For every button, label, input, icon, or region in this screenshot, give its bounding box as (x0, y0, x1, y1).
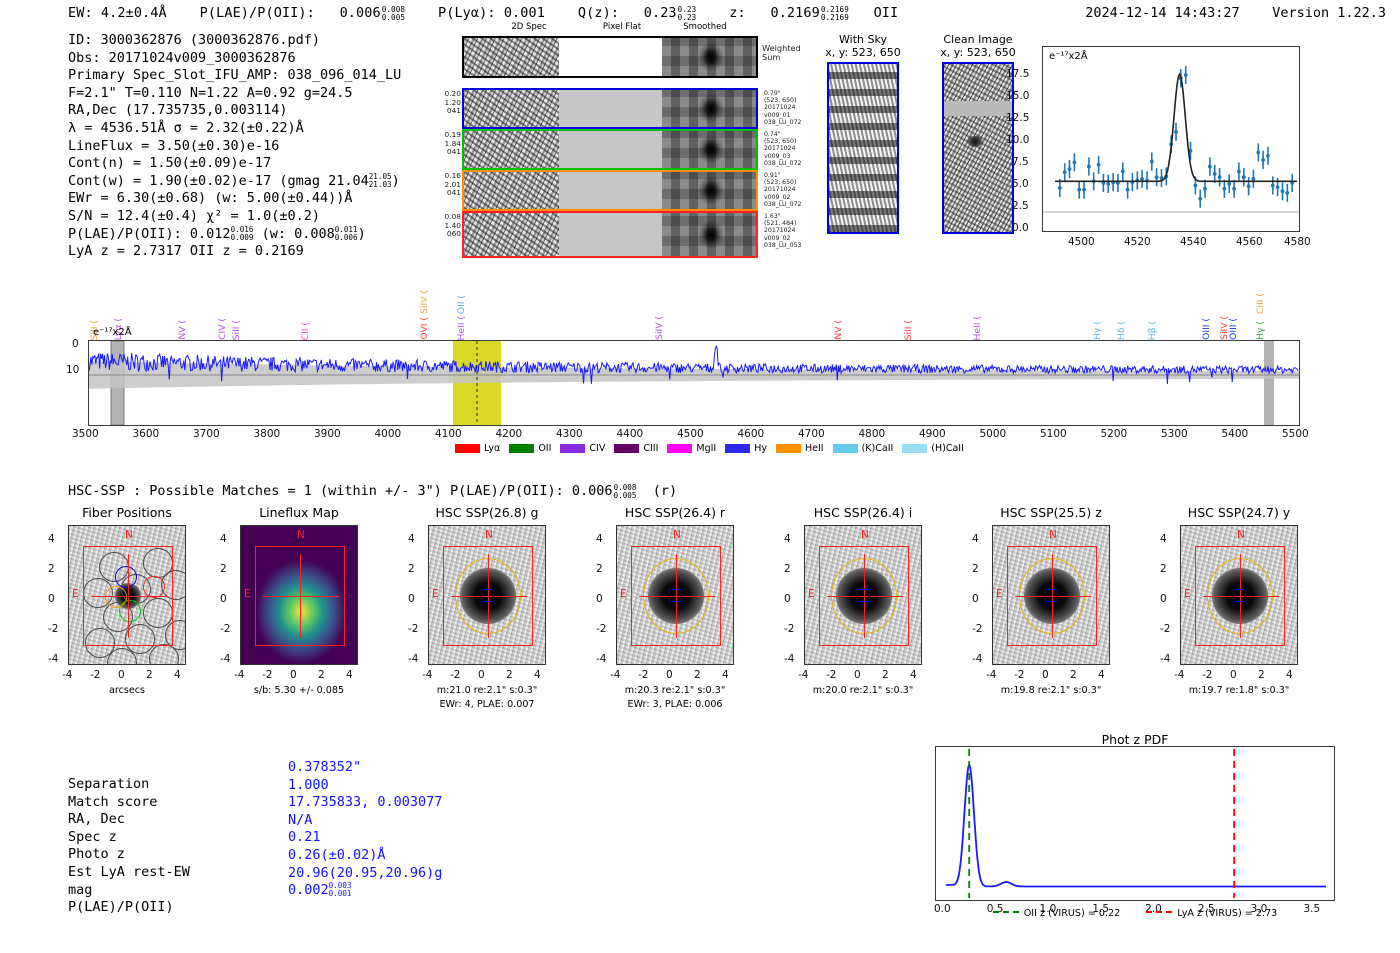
legend-label: HeII (805, 443, 824, 454)
cutout-ytick: -4 (48, 653, 58, 665)
clean-image (942, 62, 1014, 234)
match-value: 1.000 (288, 777, 442, 795)
cutout-title: HSC SSP(24.7) y (1170, 505, 1308, 520)
cutout-ytick: -4 (408, 653, 418, 665)
legend-label: (K)CaII (862, 443, 894, 454)
cutout-ytick: 2 (972, 563, 979, 575)
cutout-panel-grid: Fiber PositionsNE420-2-4-4-2024arcsecsLi… (0, 505, 1400, 735)
emission-line-label: Hδ ( (1116, 321, 1127, 340)
cutout-xtick: 2 (318, 669, 325, 681)
emission-line-label: SiIV ( (419, 290, 430, 314)
cutout-ytick: 2 (784, 563, 791, 575)
cutout-image-lineflux[interactable]: NE (240, 525, 358, 665)
fullspec-canvas (89, 341, 1299, 425)
legend-label: OII (538, 443, 551, 454)
version-label: Version 1.22.3 (1272, 5, 1386, 21)
cutout-ytick: -2 (48, 623, 58, 635)
cutout-title: HSC SSP(26.4) i (794, 505, 932, 520)
cutout-title: Lineflux Map (230, 505, 368, 520)
legend-swatch (833, 444, 858, 453)
cutout-xtick: 4 (1286, 669, 1293, 681)
cutout-ytick: 4 (408, 533, 415, 545)
cutout-xtick: -4 (986, 669, 996, 681)
cutout-xtick: 0 (854, 669, 861, 681)
photz-legend-swatch (993, 911, 1019, 913)
info-primary-spec: Primary Spec_Slot_IFU_AMP: 038_096_014_L… (68, 67, 401, 85)
cutout-ytick: 2 (408, 563, 415, 575)
zoomplot-xtick: 4540 (1180, 236, 1207, 248)
cutout-xtick: -2 (826, 669, 836, 681)
cutout-xtick: -2 (638, 669, 648, 681)
spec2d-cell-pixelflat (559, 213, 662, 256)
full-spectrum-plot: e⁻¹⁷x2Å (88, 340, 1300, 426)
spec2d-weighted-sum-label: WeightedSum (762, 44, 801, 62)
cutout-ytick: 0 (1160, 593, 1167, 605)
legend-item: CIV (560, 443, 605, 454)
cutout-xtick: 4 (534, 669, 541, 681)
match-value: 17.735833, 0.003077 (288, 794, 442, 812)
cutout-ytick: 4 (48, 533, 55, 545)
cutout-image-cutout[interactable]: NE (428, 525, 546, 665)
info-gmag-bounds: 21.0521.03 (369, 173, 392, 189)
match-table-values: 0.378352" 1.000 17.735833, 0.003077 N/A … (288, 759, 442, 900)
zoomplot-ytick: 15.0 (1006, 90, 1029, 102)
header-z-value: 0.2169 (770, 5, 819, 21)
photz-legend-item: LyA z (VIRUS) = 2.73 (1146, 908, 1277, 919)
zoomplot-xtick: 4500 (1068, 236, 1095, 248)
cutout-xtick: -2 (1014, 669, 1024, 681)
cutout-ytick: 0 (220, 593, 227, 605)
spec2d-weighted-sum-row (462, 36, 758, 78)
cutout-xtick: -4 (422, 669, 432, 681)
match-label: Separation (68, 776, 190, 794)
cutout-title: Fiber Positions (58, 505, 196, 520)
compass-n-label: N (1237, 529, 1245, 541)
zoomplot-xtick: 4520 (1124, 236, 1151, 248)
cutout-title: HSC SSP(26.8) g (418, 505, 556, 520)
fullspec-xtick: 4300 (556, 428, 583, 440)
spec2d-cell-2dspec (464, 90, 559, 127)
cutout-caption: m:19.8 re:2.1" s:0.3" (970, 685, 1132, 697)
photz-legend-item: OII z (VIRUS) = 0.22 (993, 908, 1121, 919)
cutout-xtick: 2 (694, 669, 701, 681)
legend-swatch (776, 444, 801, 453)
header-z-label: z: (729, 5, 745, 21)
compass-e-label: E (72, 588, 79, 600)
legend-item: OII (509, 443, 551, 454)
cutout-ytick: 0 (408, 593, 415, 605)
zoomplot-canvas (1043, 47, 1299, 231)
match-marker (1233, 589, 1246, 602)
spec2d-row: 0.081.40060 1.63"(521, 484)20171024v009_… (462, 211, 758, 258)
cutout-image-cutout[interactable]: NE (1180, 525, 1298, 665)
cutout-ytick: 4 (972, 533, 979, 545)
legend-swatch (455, 444, 480, 453)
cutout-xtick: 2 (1070, 669, 1077, 681)
spec2d-row: 0.201.20041 0.79"(523, 650)20171024v009_… (462, 88, 758, 129)
cutout-ytick: -2 (972, 623, 982, 635)
compass-n-label: N (1049, 529, 1057, 541)
cutout-xtick: 0 (666, 669, 673, 681)
cutout-caption-secondary: EWr: 3, PLAE: 0.006 (594, 699, 756, 711)
legend-swatch (614, 444, 639, 453)
fullspec-xtick: 5300 (1161, 428, 1188, 440)
cutout-ytick: 4 (596, 533, 603, 545)
photz-pdf-legend: OII z (VIRUS) = 0.22LyA z (VIRUS) = 2.73 (935, 908, 1335, 919)
match-value: N/A (288, 812, 442, 830)
cutout-caption: m:21.0 re:2.1" s:0.3" (406, 685, 568, 697)
fullspec-xtick: 4800 (859, 428, 886, 440)
header-z-bounds: 0.21690.2169 (821, 6, 849, 22)
fullspec-xtick: 3800 (254, 428, 281, 440)
emission-line-label: HeII ( (456, 316, 467, 341)
compass-n-label: N (297, 529, 305, 541)
zoomplot-ytick: 0.0 (1012, 222, 1029, 234)
fullspec-xtick: 4500 (677, 428, 704, 440)
fullspec-ytick: 10 (66, 364, 79, 376)
header-qz-label: Q(z): (578, 5, 619, 21)
spec2d-cell-2dspec (464, 213, 559, 256)
legend-item: (H)CaII (902, 443, 964, 454)
cutout-ytick: -2 (1160, 623, 1170, 635)
info-redshifts: LyA z = 2.7317 OII z = 0.2169 (68, 243, 401, 261)
compass-n-label: N (673, 529, 681, 541)
cutout-xtick: -2 (1202, 669, 1212, 681)
cutout-ytick: 4 (220, 533, 227, 545)
cutout-ytick: 0 (784, 593, 791, 605)
spec2d-cell-smoothed (662, 172, 756, 209)
cutout-xtick: 4 (346, 669, 353, 681)
spec2d-row: 0.191.84041 0.74"(523, 650)20171024v009_… (462, 129, 758, 170)
compass-e-label: E (996, 588, 1003, 600)
spec2d-row-left-labels: 0.191.84041 (445, 131, 461, 157)
fullspec-xtick: 3600 (133, 428, 160, 440)
spec2d-col-title-2dspec: 2D Spec (486, 22, 572, 32)
emission-line-label: HeII ( (972, 316, 983, 341)
clean-image-title: Clean Image (928, 33, 1028, 46)
emission-line-label: CIII ( (1255, 293, 1266, 314)
fullspec-xtick: 4900 (919, 428, 946, 440)
cutout-image-cutout[interactable]: NE (992, 525, 1110, 665)
spectrum-legend: LyαOIICIVCIIIMgIIHyHeII(K)CaII(H)CaII (455, 443, 964, 454)
cutout-xtick: -4 (610, 669, 620, 681)
fullspec-xtick: 4400 (617, 428, 644, 440)
cutout-xtick: 4 (722, 669, 729, 681)
cutout-ytick: -2 (784, 623, 794, 635)
cutout-xtick: -4 (234, 669, 244, 681)
cutout-title: HSC SSP(25.5) z (982, 505, 1120, 520)
cutout-ytick: -2 (596, 623, 606, 635)
emission-line-label: OIII ( (1228, 318, 1239, 340)
fullspec-xtick: 3700 (193, 428, 220, 440)
header-timestamp-block: 2024-12-14 14:43:27 Version 1.22.3 (1085, 5, 1386, 21)
cutout-image-cutout[interactable]: NE (804, 525, 922, 665)
legend-item: Hy (725, 443, 767, 454)
clean-image-masked-strip (944, 101, 1012, 116)
cutout-xtick: 4 (910, 669, 917, 681)
legend-swatch (509, 444, 534, 453)
emission-line-label: Hγ ( (1092, 321, 1103, 340)
info-ewr: EWr = 6.30(±0.68) (w: 5.00(±0.44))Å (68, 190, 401, 208)
legend-label: CIII (643, 443, 658, 454)
compass-n-label: N (485, 529, 493, 541)
match-marker (1045, 589, 1058, 602)
legend-item: (K)CaII (833, 443, 894, 454)
info-lineflux: LineFlux = 3.50(±0.30)e-16 (68, 138, 401, 156)
legend-item: Lyα (455, 443, 500, 454)
match-marker (481, 589, 494, 602)
zoomplot-ytick: 2.5 (1012, 200, 1029, 212)
photz-pdf-title: Phot z PDF (935, 732, 1335, 747)
legend-label: Lyα (484, 443, 500, 454)
fullspec-xtick-row: 3500360037003800390040004100420043004400… (88, 428, 1300, 444)
with-sky-coords: x, y: 523, 650 (812, 46, 914, 59)
photz-legend-swatch (1146, 911, 1172, 913)
cutout-ytick: -4 (220, 653, 230, 665)
match-value-plae: 0.0020.0030.001 (288, 882, 442, 900)
fullspec-xtick: 5400 (1222, 428, 1249, 440)
cutout-title: HSC SSP(26.4) r (606, 505, 744, 520)
zoomplot-ytick: 17.5 (1006, 68, 1029, 80)
header-qz-value: 0.23 (644, 5, 677, 21)
emission-line-label: OVI ( (419, 317, 430, 340)
spec2d-row-left-labels: 0.162.01041 (445, 172, 461, 198)
zoomplot-xtick: 4560 (1236, 236, 1263, 248)
fullspec-xtick: 5000 (980, 428, 1007, 440)
spec2d-cell-smoothed (662, 90, 756, 127)
cutout-ytick: -4 (784, 653, 794, 665)
with-sky-title: With Sky (820, 33, 906, 46)
legend-label: CIV (589, 443, 605, 454)
emission-line-label: SiII ( (231, 320, 242, 340)
crosshair-horizontal (263, 596, 339, 597)
cutout-xtick: 2 (506, 669, 513, 681)
cutout-ytick: -4 (972, 653, 982, 665)
match-value: 0.378352" (288, 759, 442, 777)
header-qz-bounds: 0.230.23 (678, 6, 697, 22)
cutout-image-fibers[interactable]: NE (68, 525, 186, 665)
cutout-xtick: 0 (478, 669, 485, 681)
header-plae-bounds: 0.0080.005 (382, 6, 405, 22)
emission-line-label: OIII ( (1201, 318, 1212, 340)
legend-label: (H)CaII (931, 443, 964, 454)
photz-legend-label: LyA z (VIRUS) = 2.73 (1177, 908, 1277, 919)
header-z-species: OII (874, 5, 899, 21)
hsc-plae-bounds: 0.0080.005 (614, 484, 637, 500)
match-marker (669, 589, 682, 602)
emission-line-label: NV ( (177, 320, 188, 340)
cutout-xtick: 0 (290, 669, 297, 681)
info-plae: P(LAE)/P(OII): 0.0120.0160.009 (w: 0.008… (68, 226, 401, 244)
fullspec-ytick: 0 (72, 338, 79, 350)
clean-image-coords: x, y: 523, 650 (927, 46, 1029, 59)
legend-swatch (667, 444, 692, 453)
spec2d-row-left-labels: 0.081.40060 (445, 213, 461, 239)
photz-pdf-plot (935, 746, 1335, 901)
emission-line-label: CIV ( (217, 318, 228, 340)
info-snr: S/N = 12.4(±0.4) χ² = 1.0(±0.2) (68, 208, 401, 226)
fullspec-xtick: 4000 (375, 428, 402, 440)
header-plae-label: P(LAE)/P(OII): (200, 5, 315, 21)
zoomplot-ytick: 7.5 (1012, 156, 1029, 168)
match-marker (857, 589, 870, 602)
spec2d-row: 0.162.01041 0.91"(523, 650)20171024v009_… (462, 170, 758, 211)
spec2d-col-title-smoothed: Smoothed (662, 22, 748, 32)
cutout-ytick: 0 (48, 593, 55, 605)
fullspec-xtick: 5500 (1282, 428, 1309, 440)
info-plae-w-bounds: 0.0110.006 (335, 226, 358, 242)
cutout-xtick: 2 (146, 669, 153, 681)
compass-e-label: E (808, 588, 815, 600)
cutout-caption: arcsecs (46, 685, 208, 697)
match-value: 0.26(±0.02)Å (288, 847, 442, 865)
cutout-xtick: 0 (1042, 669, 1049, 681)
crosshair-horizontal (91, 596, 167, 597)
legend-label: Hy (754, 443, 767, 454)
fullspec-xtick: 3500 (72, 428, 99, 440)
cutout-ytick: 2 (1160, 563, 1167, 575)
cutout-image-cutout[interactable]: NE (616, 525, 734, 665)
zoomplot-ytick: 12.5 (1006, 112, 1029, 124)
cutout-xtick: 0 (1230, 669, 1237, 681)
compass-n-label: N (125, 529, 133, 541)
legend-swatch (725, 444, 750, 453)
match-label: P(LAE)/P(OII) (68, 899, 190, 917)
match-plae-bounds: 0.0030.001 (329, 882, 352, 898)
spec2d-row-right-labels: 0.79"(523, 650)20171024v009_01038_LU_072 (764, 90, 801, 126)
match-label: Est LyA rest-EW (68, 864, 190, 882)
cutout-xtick: -4 (62, 669, 72, 681)
cutout-caption: m:20.3 re:2.1" s:0.3" (594, 685, 756, 697)
info-id: ID: 3000362876 (3000362876.pdf) (68, 32, 401, 50)
zoomplot-xtick: 4580 (1284, 236, 1311, 248)
header-summary-line: EW: 4.2±0.4Å P(LAE)/P(OII): 0.0060.0080.… (68, 5, 898, 21)
cutout-ytick: -2 (220, 623, 230, 635)
header-plae-value: 0.006 (340, 5, 381, 21)
fullspec-flux-annotation: e⁻¹⁷x2Å (93, 327, 132, 338)
fullspec-xtick: 3900 (314, 428, 341, 440)
photz-pdf-canvas (936, 747, 1334, 900)
emission-line-label: Hγ ( (1255, 321, 1266, 340)
spec2d-row-right-labels: 0.91"(523, 650)20171024v009_02038_LU_072 (764, 172, 801, 208)
compass-n-label: N (861, 529, 869, 541)
source-info-block: ID: 3000362876 (3000362876.pdf) Obs: 201… (68, 32, 401, 261)
spec2d-col-title-pixelflat: Pixel Flat (580, 22, 664, 32)
match-label: Match score (68, 794, 190, 812)
cutout-xtick: 4 (174, 669, 181, 681)
cutout-xtick: 2 (1258, 669, 1265, 681)
compass-e-label: E (1184, 588, 1191, 600)
match-label: RA, Dec (68, 811, 190, 829)
hsc-summary-line: HSC-SSP : Possible Matches = 1 (within +… (68, 483, 677, 499)
emission-line-label: SiII ( (903, 320, 914, 340)
spec2d-cell-smoothed (662, 213, 756, 256)
cutout-caption-secondary: EWr: 4, PLAE: 0.007 (406, 699, 568, 711)
match-label: Photo z (68, 846, 190, 864)
spec2d-cell-2dspec (464, 131, 559, 168)
spec2d-cell-2dspec (464, 172, 559, 209)
info-radec: RA,Dec (17.735735,0.003114) (68, 102, 401, 120)
header-plya: P(Lyα): 0.001 (438, 5, 545, 21)
legend-swatch (560, 444, 585, 453)
timestamp: 2024-12-14 14:43:27 (1085, 5, 1239, 21)
cutout-ytick: 4 (784, 533, 791, 545)
spec2d-weighted-2dspec (464, 38, 559, 76)
spec2d-row-right-labels: 0.74"(523, 650)20171024v009_03038_LU_072 (764, 131, 801, 167)
cutout-ytick: 2 (48, 563, 55, 575)
cutout-xtick: -4 (1174, 669, 1184, 681)
cutout-ytick: 2 (596, 563, 603, 575)
photz-legend-label: OII z (VIRUS) = 0.22 (1024, 908, 1121, 919)
spec2d-weighted-pixelflat (559, 38, 662, 76)
emission-line-label: Hβ ( (1147, 321, 1158, 340)
with-sky-image (827, 62, 899, 234)
cutout-xtick: -2 (450, 669, 460, 681)
info-plae-bounds: 0.0160.009 (231, 226, 254, 242)
cutout-ytick: -4 (596, 653, 606, 665)
cutout-ytick: -2 (408, 623, 418, 635)
legend-item: CIII (614, 443, 658, 454)
cutout-xtick: 4 (1098, 669, 1105, 681)
fullspec-xtick: 4700 (798, 428, 825, 440)
spec2d-montage: 2D Spec Pixel Flat Smoothed WeightedSum … (462, 36, 758, 258)
spec2d-cell-pixelflat (559, 172, 662, 209)
cutout-xtick: -2 (262, 669, 272, 681)
cutout-ytick: 2 (220, 563, 227, 575)
spec2d-cell-pixelflat (559, 131, 662, 168)
info-obs: Obs: 20171024v009_3000362876 (68, 50, 401, 68)
cutout-ytick: -4 (1160, 653, 1170, 665)
match-label: mag (68, 882, 190, 900)
fullspec-xtick: 5200 (1101, 428, 1128, 440)
fullspec-xtick: 4100 (435, 428, 462, 440)
compass-e-label: E (432, 588, 439, 600)
cutout-ytick: 4 (1160, 533, 1167, 545)
spec2d-row-left-labels: 0.201.20041 (445, 90, 461, 116)
emission-line-zoom-plot: e⁻¹⁷x2Å (1042, 46, 1300, 232)
cutout-xtick: -4 (798, 669, 808, 681)
fullspec-xtick: 4600 (738, 428, 765, 440)
cutout-caption: m:20.0 re:2.1" s:0.3" (782, 685, 944, 697)
info-seeing: F=2.1" T=0.110 N=1.22 A=0.92 g=24.5 (68, 85, 401, 103)
match-label: Spec z (68, 829, 190, 847)
spec2d-cell-smoothed (662, 131, 756, 168)
info-cont-n: Cont(n) = 1.50(±0.09)e-17 (68, 155, 401, 173)
emission-line-label: SiIV ( (654, 316, 665, 340)
spec2d-weighted-smoothed (662, 38, 756, 76)
info-cont-w: Cont(w) = 1.90(±0.02)e-17 (gmag 21.0421.… (68, 173, 401, 191)
emission-line-label-row: SiII (Lyα (NV (CIV (SiII (CII (SiIV (OVI… (88, 278, 1300, 340)
emission-line-label: NV ( (833, 320, 844, 340)
info-wavelength: λ = 4536.51Å σ = 2.32(±0.22)Å (68, 120, 401, 138)
match-table-labels: Separation Match score RA, Dec Spec z Ph… (68, 776, 190, 917)
cutout-xtick: 0 (118, 669, 125, 681)
spec2d-row-right-labels: 1.63"(521, 484)20171024v009_02038_LU_053 (764, 213, 801, 249)
spec2d-cell-pixelflat (559, 90, 662, 127)
header-ew: EW: 4.2±0.4Å (68, 5, 167, 21)
emission-line-label: OII ( (456, 295, 467, 314)
clean-image-source-blob (967, 136, 983, 147)
fullspec-xtick: 5100 (1040, 428, 1067, 440)
legend-item: MgII (667, 443, 716, 454)
compass-e-label: E (620, 588, 627, 600)
compass-e-label: E (244, 588, 251, 600)
match-value: 0.21 (288, 829, 442, 847)
cutout-caption: m:19.7 re:1.8" s:0.3" (1158, 685, 1320, 697)
cutout-ytick: 0 (596, 593, 603, 605)
zoomplot-ytick: 5.0 (1012, 178, 1029, 190)
emission-line-label: CII ( (300, 322, 311, 340)
